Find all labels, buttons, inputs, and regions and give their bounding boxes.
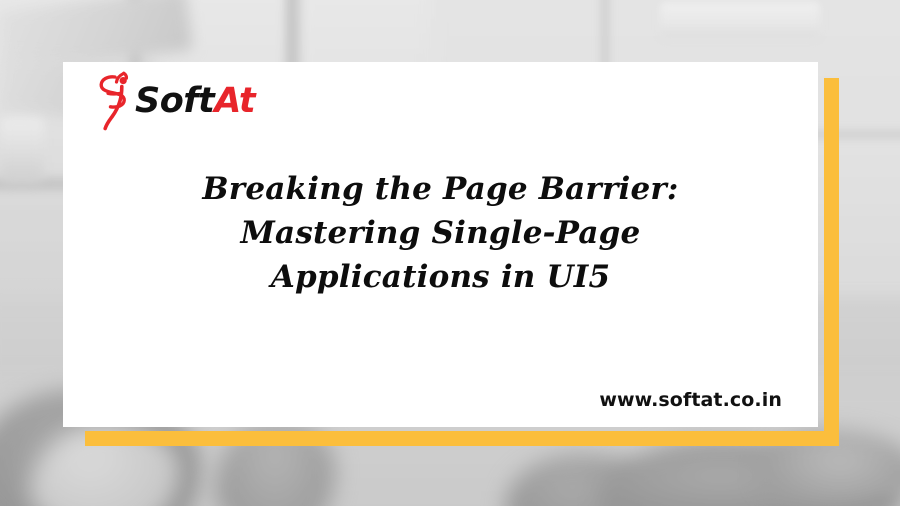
accent-bar-bottom <box>85 431 839 446</box>
page-title-line-2: Mastering Single-Page <box>99 211 782 255</box>
brand-wordmark-primary: Soft <box>135 81 214 121</box>
banner-root: SoftAt Breaking the Page Barrier: Master… <box>0 0 900 506</box>
accent-bar-right <box>824 78 839 446</box>
brand-wordmark-accent: At <box>214 81 255 121</box>
website-url[interactable]: www.softat.co.in <box>599 389 782 411</box>
softat-figure-mark-icon <box>93 70 135 132</box>
page-title: Breaking the Page Barrier: Mastering Sin… <box>63 167 818 299</box>
page-title-line-1: Breaking the Page Barrier: <box>99 167 782 211</box>
content-card: SoftAt Breaking the Page Barrier: Master… <box>63 62 818 427</box>
brand-logo[interactable]: SoftAt <box>93 70 255 132</box>
page-title-line-3: Applications in UI5 <box>99 255 782 299</box>
brand-wordmark: SoftAt <box>135 84 255 119</box>
